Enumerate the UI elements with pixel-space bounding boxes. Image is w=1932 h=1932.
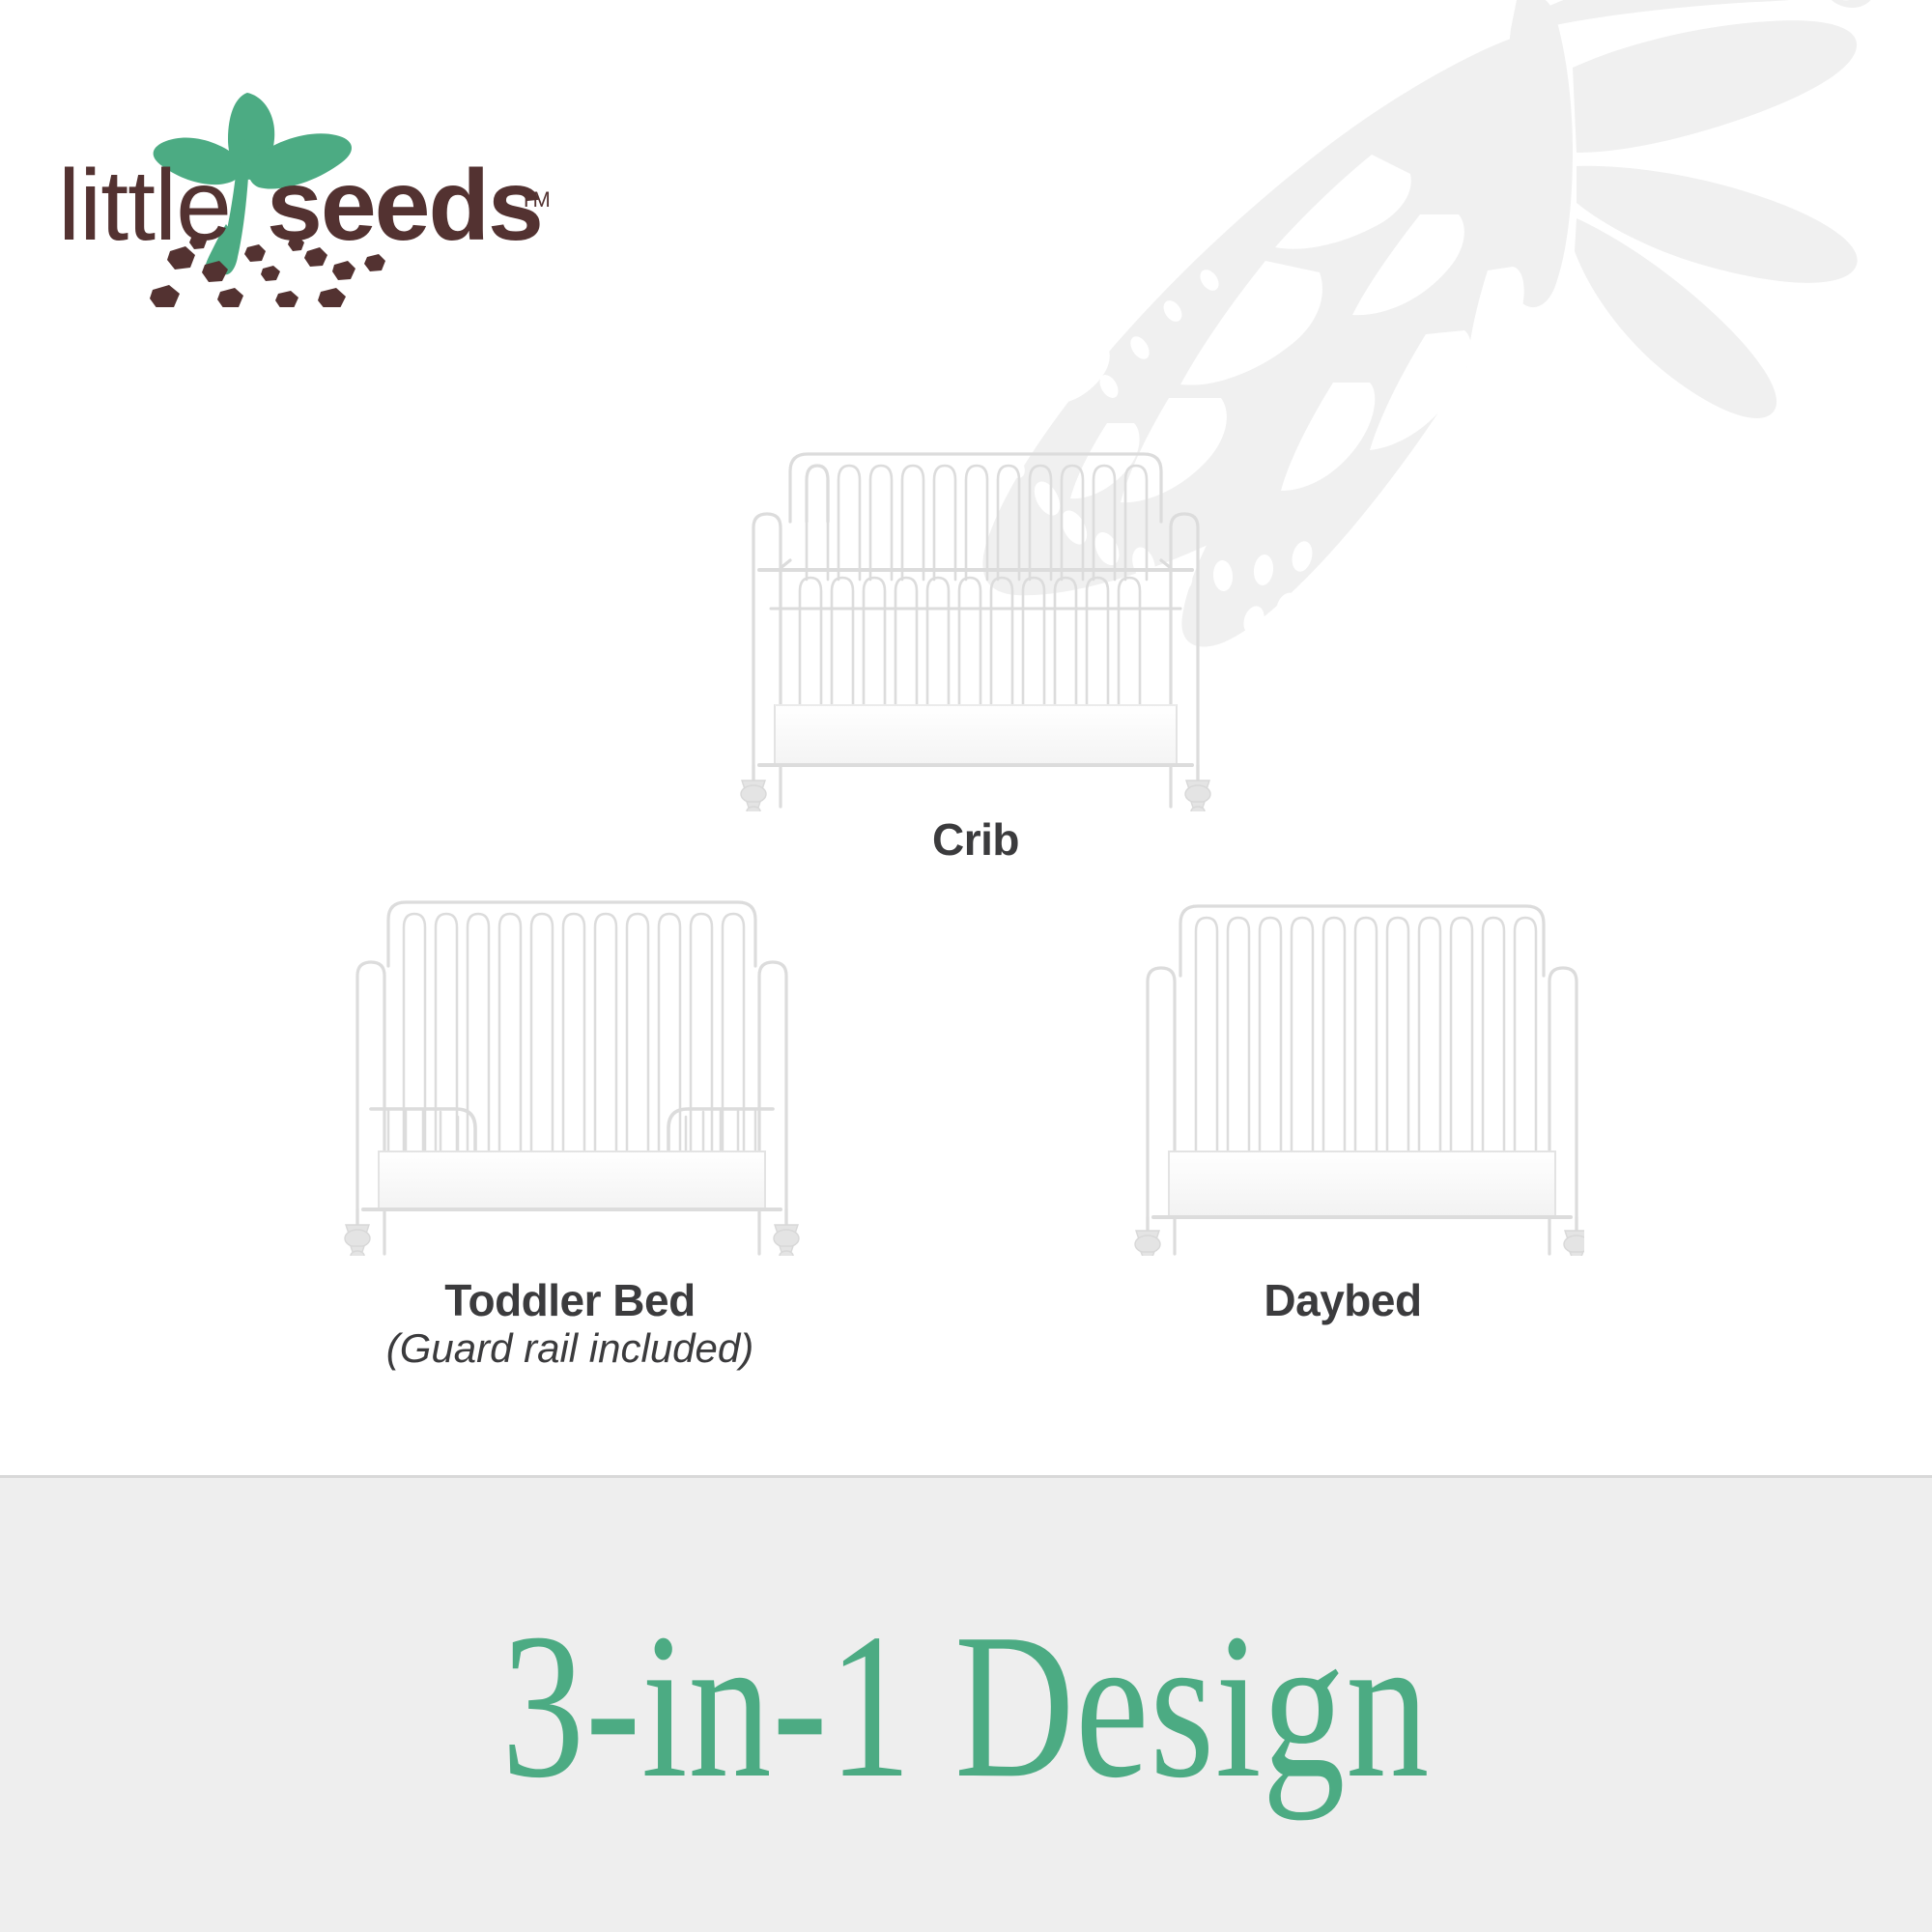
product-image-daybed [1101, 869, 1584, 1256]
banner-headline-text: 3-in-1 Design [501, 1602, 1430, 1809]
caption-title-daybed: Daybed [1072, 1277, 1613, 1325]
toddler-mattress [379, 1151, 765, 1209]
daybed-mattress [1169, 1151, 1555, 1217]
caption-title-toddler-bed: Toddler Bed [261, 1277, 879, 1325]
bottom-banner: 3-in-1 Design [0, 1475, 1932, 1932]
caption-subtitle-toddler-bed: (Guard rail included) [261, 1325, 879, 1371]
trademark-symbol: TM [520, 187, 551, 212]
caption-title-crib: Crib [715, 816, 1236, 865]
crib-mattress [775, 705, 1177, 765]
product-image-toddler-bed [328, 869, 811, 1256]
banner-headline: 3-in-1 Design [0, 1478, 1932, 1932]
caption-toddler-bed: Toddler Bed (Guard rail included) [261, 1277, 879, 1371]
caption-crib: Crib [715, 816, 1236, 865]
caption-daybed: Daybed [1072, 1277, 1613, 1325]
product-image-crib [715, 425, 1236, 811]
logo-word-seeds: seeds [267, 150, 542, 262]
little-seeds-logo: little seeds TM [58, 85, 560, 307]
product-infographic-page: little seeds TM [0, 0, 1932, 1932]
